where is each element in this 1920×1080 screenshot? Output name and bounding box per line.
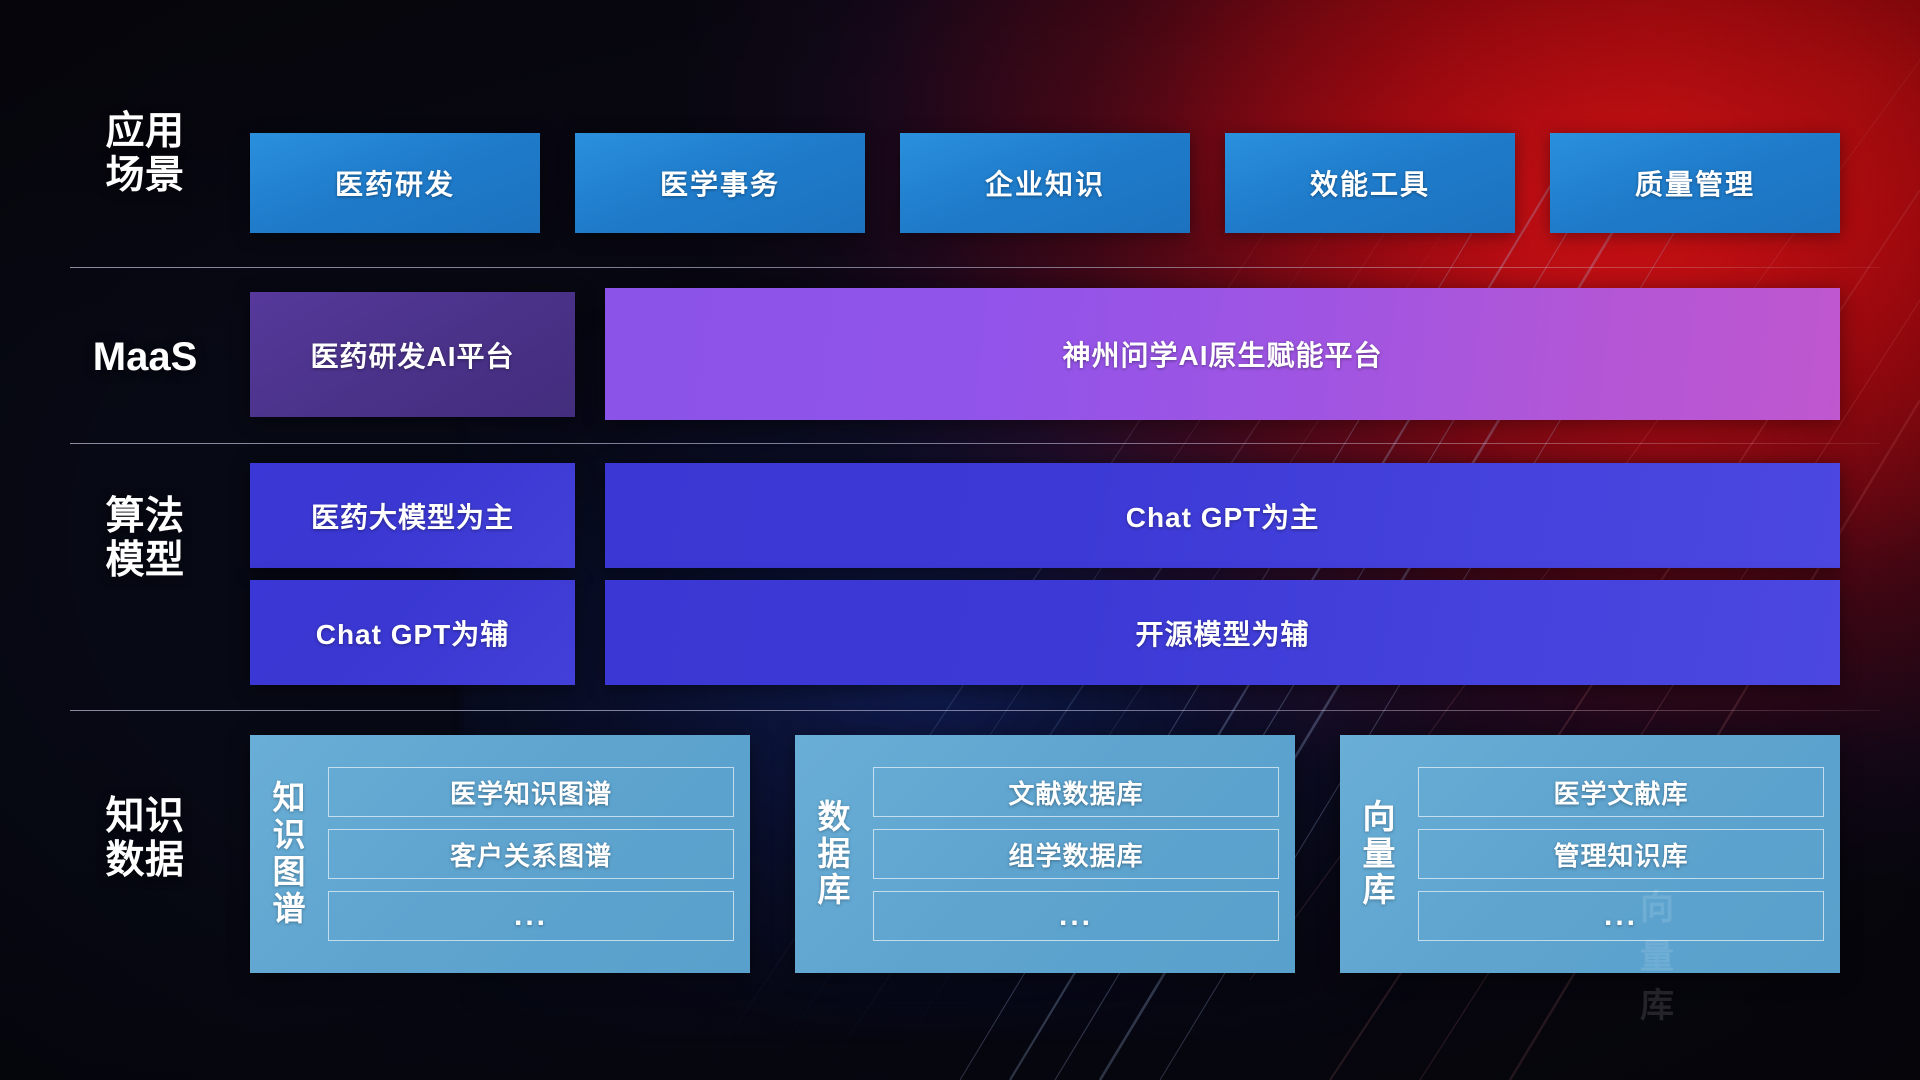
knowledge-item-medical-literature-store[interactable]: 医学文献库 <box>1418 767 1824 817</box>
row-label-application-scenario: 应用 场景 <box>70 110 220 199</box>
knowledge-item-medical-knowledge-graph[interactable]: 医学知识图谱 <box>328 767 734 817</box>
knowledge-item-management-knowledge-store[interactable]: 管理知识库 <box>1418 829 1824 879</box>
row-label-algorithm-model: 算法 模型 <box>70 495 220 584</box>
knowledge-item-label: 客户关系图谱 <box>450 836 612 873</box>
scenario-card-4-label: 效能工具 <box>1310 163 1430 203</box>
knowledge-item-label: 医学知识图谱 <box>450 774 612 811</box>
algo-card-chatgpt-primary[interactable]: Chat GPT为主 <box>605 463 1840 568</box>
knowledge-item-label: ... <box>1059 899 1093 933</box>
knowledge-item-more-3[interactable]: ... <box>1418 891 1824 941</box>
knowledge-item-more-1[interactable]: ... <box>328 891 734 941</box>
algo-card-chatgpt-primary-label: Chat GPT为主 <box>1126 496 1320 536</box>
knowledge-item-label: ... <box>1604 899 1638 933</box>
algo-card-chatgpt-secondary-label: Chat GPT为辅 <box>316 613 510 653</box>
row-label-maas: MaaS <box>70 335 220 381</box>
knowledge-item-label: 文献数据库 <box>1008 774 1143 811</box>
maas-card-shenzhou-platform-label: 神州问学AI原生赋能平台 <box>1062 334 1382 374</box>
knowledge-item-label: ... <box>514 899 548 933</box>
algo-card-drug-model-primary[interactable]: 医药大模型为主 <box>250 463 575 568</box>
maas-card-drug-rd-platform-label: 医药研发AI平台 <box>310 335 514 375</box>
separator-1 <box>70 267 1880 268</box>
knowledge-item-customer-relation-graph[interactable]: 客户关系图谱 <box>328 829 734 879</box>
row-label-knowledge-data: 知识 数据 <box>70 795 220 884</box>
knowledge-item-label: 管理知识库 <box>1553 836 1688 873</box>
maas-card-drug-rd-platform[interactable]: 医药研发AI平台 <box>250 292 575 417</box>
knowledge-item-label: 组学数据库 <box>1008 836 1143 873</box>
maas-card-shenzhou-platform[interactable]: 神州问学AI原生赋能平台 <box>605 288 1840 420</box>
separator-2 <box>70 443 1880 444</box>
knowledge-item-literature-database[interactable]: 文献数据库 <box>873 767 1279 817</box>
scenario-card-3-label: 企业知识 <box>985 163 1105 203</box>
knowledge-group-knowledge-graph-title: 知 识 图 谱 <box>250 780 328 928</box>
knowledge-item-omics-database[interactable]: 组学数据库 <box>873 829 1279 879</box>
scenario-card-5-label: 质量管理 <box>1635 163 1755 203</box>
scenario-card-5[interactable]: 质量管理 <box>1550 133 1840 233</box>
knowledge-group-knowledge-graph: 知 识 图 谱 医学知识图谱 客户关系图谱 ... <box>250 735 750 973</box>
algo-card-opensource-secondary-label: 开源模型为辅 <box>1135 613 1309 653</box>
algo-card-chatgpt-secondary[interactable]: Chat GPT为辅 <box>250 580 575 685</box>
knowledge-group-database: 数 据 库 文献数据库 组学数据库 ... <box>795 735 1295 973</box>
architecture-diagram: 应用 场景 医药研发 医学事务 企业知识 效能工具 质量管理 MaaS 医药研发… <box>0 0 1920 1080</box>
scenario-card-3[interactable]: 企业知识 <box>900 133 1190 233</box>
scenario-card-1[interactable]: 医药研发 <box>250 133 540 233</box>
knowledge-item-label: 医学文献库 <box>1553 774 1688 811</box>
separator-3 <box>70 710 1880 711</box>
scenario-card-4[interactable]: 效能工具 <box>1225 133 1515 233</box>
scenario-card-2[interactable]: 医学事务 <box>575 133 865 233</box>
scenario-card-1-label: 医药研发 <box>335 163 455 203</box>
knowledge-group-vector-store-title: 向 量 库 <box>1340 799 1418 910</box>
algo-card-opensource-secondary[interactable]: 开源模型为辅 <box>605 580 1840 685</box>
knowledge-group-database-title: 数 据 库 <box>795 799 873 910</box>
algo-card-drug-model-primary-label: 医药大模型为主 <box>311 496 514 536</box>
scenario-card-2-label: 医学事务 <box>660 163 780 203</box>
knowledge-group-vector-store: 向 量 库 医学文献库 管理知识库 ... <box>1340 735 1840 973</box>
knowledge-item-more-2[interactable]: ... <box>873 891 1279 941</box>
